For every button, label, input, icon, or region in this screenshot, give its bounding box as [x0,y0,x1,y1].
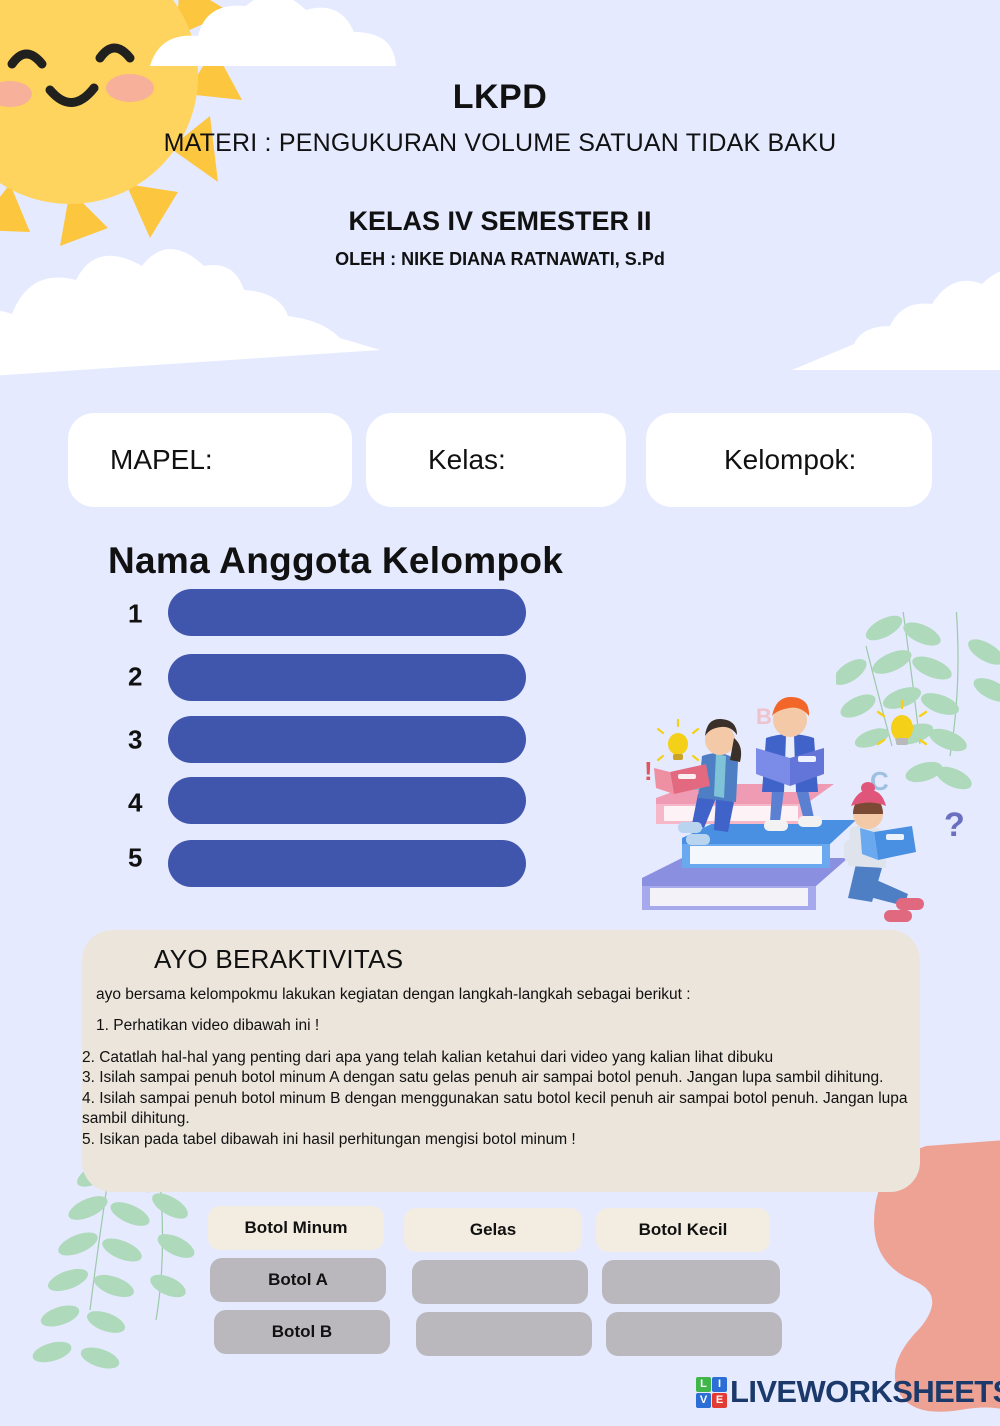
member-row: 5 [0,834,640,897]
member-name-input-1[interactable] [168,589,526,636]
member-name-input-3[interactable] [168,716,526,763]
activity-step-1: 1. Perhatikan video dibawah ini ! [92,1015,898,1037]
logo-tile-l: L [696,1377,711,1392]
activity-steps: 2. Catatlah hal-hal yang penting dari ap… [82,1048,928,1150]
activity-step-5: 5. Isikan pada tabel dibawah ini hasil p… [82,1130,924,1150]
table-input-botol-a-botol-kecil[interactable] [602,1260,780,1304]
svg-text:?: ? [944,806,965,844]
header-class-line: KELAS IV SEMESTER II [0,206,1000,237]
kelompok-label: Kelompok: [646,444,856,476]
logo-tile-v: V [696,1393,711,1408]
logo-tile-e: E [712,1393,727,1408]
member-number: 3 [128,724,142,755]
member-number: 2 [128,661,142,692]
member-row: 4 [0,771,640,834]
table-header-botol-kecil: Botol Kecil [596,1208,770,1252]
header-author-line: OLEH : NIKE DIANA RATNAWATI, S.Pd [0,249,1000,270]
liveworksheets-wordmark: LIVEWORKSHEETS [730,1374,1000,1410]
svg-text:C: C [870,766,889,796]
leaf-decoration: C ? [836,612,1000,852]
activity-step-2: 2. Catatlah hal-hal yang penting dari ap… [82,1048,924,1068]
member-row: 1 [0,582,640,645]
table-input-botol-b-botol-kecil[interactable] [606,1312,782,1356]
activity-panel: AYO BERAKTIVITAS ayo bersama kelompokmu … [82,930,920,1192]
table-row-label-botol-a: Botol A [210,1258,386,1302]
table-input-botol-a-gelas[interactable] [412,1260,588,1304]
group-members-section: Nama Anggota Kelompok 1 2 3 4 5 [0,540,640,897]
member-name-input-5[interactable] [168,840,526,887]
liveworksheets-logo-tiles: L I V E [696,1377,727,1408]
member-number: 4 [128,787,142,818]
field-cards: MAPEL: Kelas: Kelompok: [68,413,932,507]
liveworksheets-logo[interactable]: L I V E LIVEWORKSHEETS [696,1372,1000,1412]
table-row: Botol A [208,1258,786,1310]
page-title: LKPD [0,78,1000,117]
worksheet-header: LKPD MATERI : PENGUKURAN VOLUME SATUAN T… [0,78,1000,270]
table-header-gelas: Gelas [404,1208,582,1252]
header-subtitle: MATERI : PENGUKURAN VOLUME SATUAN TIDAK … [0,129,1000,158]
logo-tile-i: I [712,1377,727,1392]
member-row: 2 [0,645,640,708]
svg-text:B: B [756,704,772,729]
results-table: Botol Minum Gelas Botol Kecil Botol A Bo… [208,1206,786,1362]
activity-step-4: 4. Isilah sampai penuh botol minum B den… [82,1089,924,1130]
svg-text:!: ! [644,756,653,786]
cloud-decoration [150,0,450,80]
table-header-botol-minum: Botol Minum [208,1206,384,1250]
member-number: 5 [128,843,142,874]
activity-title: AYO BERAKTIVITAS [92,944,898,975]
svg-text:A: A [708,722,724,747]
table-row-label-botol-b: Botol B [214,1310,390,1354]
member-number: 1 [128,599,142,630]
member-name-input-4[interactable] [168,777,526,824]
kelas-label: Kelas: [366,444,506,476]
mapel-field[interactable]: MAPEL: [68,413,352,507]
group-members-title: Nama Anggota Kelompok [0,540,640,582]
member-name-input-2[interactable] [168,654,526,701]
mapel-label: MAPEL: [68,444,213,476]
students-reading-illustration: A B ! [620,672,960,934]
kelompok-field[interactable]: Kelompok: [646,413,932,507]
member-row: 3 [0,708,640,771]
table-row: Botol B [208,1310,786,1362]
kelas-field[interactable]: Kelas: [366,413,626,507]
activity-step-3: 3. Isilah sampai penuh botol minum A den… [82,1068,924,1088]
table-header-row: Botol Minum Gelas Botol Kecil [208,1206,786,1258]
activity-intro: ayo bersama kelompokmu lakukan kegiatan … [92,984,898,1006]
table-input-botol-b-gelas[interactable] [416,1312,592,1356]
